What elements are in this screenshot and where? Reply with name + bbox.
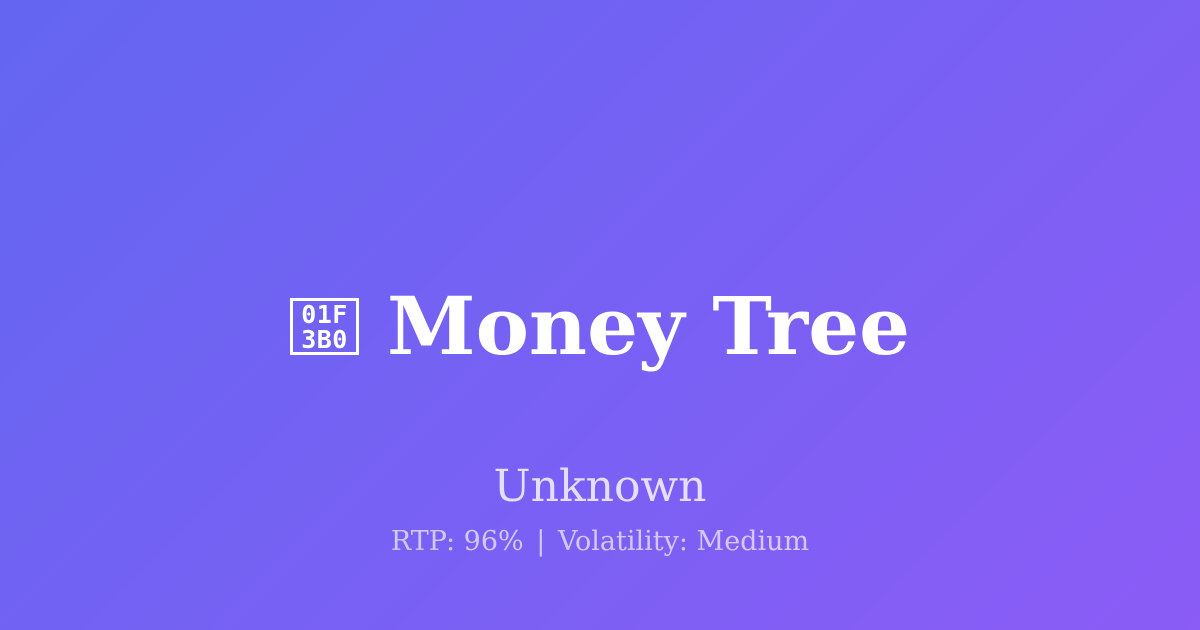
- rtp-value: 96%: [464, 526, 524, 557]
- tofu-codepoint-top: 01F: [301, 302, 348, 327]
- tofu-codepoint-bottom: 3B0: [301, 327, 348, 352]
- rtp-label: RTP:: [391, 526, 455, 557]
- page-subtitle: Unknown: [494, 465, 707, 509]
- volatility-value: Medium: [697, 526, 810, 557]
- volatility-label: Volatility:: [558, 526, 688, 557]
- meta-separator: |: [532, 526, 549, 557]
- social-card: 01F 3B0 Money Tree Unknown RTP: 96% | Vo…: [0, 0, 1200, 630]
- page-title: Money Tree: [387, 286, 910, 366]
- title-row: 01F 3B0 Money Tree: [290, 232, 910, 419]
- hero-block: 01F 3B0 Money Tree Unknown: [0, 232, 1200, 509]
- game-meta-line: RTP: 96% | Volatility: Medium: [0, 526, 1200, 558]
- slot-machine-icon: 01F 3B0: [290, 298, 359, 355]
